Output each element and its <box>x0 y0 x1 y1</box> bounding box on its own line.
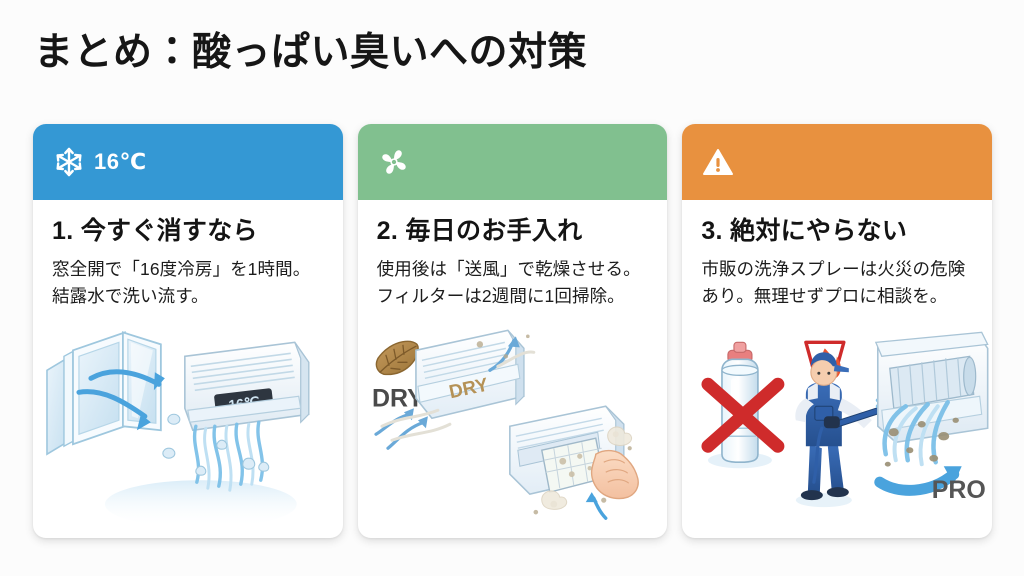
card-text-never: 市販の洗浄スプレーは火災の危険あり。無理せずプロに相談を。 <box>701 256 973 310</box>
page-title: まとめ：酸っぱい臭いへの対策 <box>34 30 587 77</box>
card-grid: 16℃ 1. 今すぐ消すなら 窓全開で「16度冷房」を1時間。結露水で洗い流す。 <box>33 124 992 538</box>
card-text-cool: 窓全開で「16度冷房」を1時間。結露水で洗い流す。 <box>52 256 324 310</box>
card-header-fan <box>358 124 668 200</box>
illustration-no-spray-pro: PRO <box>682 311 992 539</box>
dry-leaf-icon <box>376 341 418 374</box>
filter-pull-arrowhead <box>585 492 597 502</box>
warning-triangle-icon <box>702 146 734 178</box>
card-cool-burst[interactable]: 16℃ 1. 今すぐ消すなら 窓全開で「16度冷房」を1時間。結露水で洗い流す。 <box>33 124 343 538</box>
slide-root: まとめ：酸っぱい臭いへの対策 <box>0 0 1024 576</box>
card-never-do[interactable]: 3. 絶対にやらない 市販の洗浄スプレーは火災の危険あり。無理せずプロに相談を。 <box>682 124 992 538</box>
cool-air-streams-soft <box>205 424 253 490</box>
card-heading-never: 3. 絶対にやらない <box>701 216 973 247</box>
window-center-frame <box>73 332 125 444</box>
card-heading-cool: 1. 今すぐ消すなら <box>52 216 324 247</box>
hand-icon <box>591 450 638 498</box>
card-body-never: 3. 絶対にやらない 市販の洗浄スプレーは火災の危険あり。無理せずプロに相談を。 <box>682 200 992 311</box>
card-text-care: 使用後は「送風」で乾燥させる。フィルターは2週間に1回掃除。 <box>377 256 649 310</box>
card-heading-care: 2. 毎日のお手入れ <box>377 216 649 247</box>
ac-unit-filter-open <box>510 406 638 498</box>
air-conditioner-unit: 16℃ <box>185 342 309 430</box>
card-header-cool: 16℃ <box>33 124 343 200</box>
fan-icon <box>378 146 410 178</box>
card-daily-care[interactable]: 2. 毎日のお手入れ 使用後は「送風」で乾燥させる。フィルターは2週間に1回掃除… <box>358 124 668 538</box>
card-body-care: 2. 毎日のお手入れ 使用後は「送風」で乾燥させる。フィルターは2週間に1回掃除… <box>358 200 668 311</box>
illustration-open-window-ac: 16℃ <box>33 311 343 539</box>
illustration-dry-filter-clean: DRY DRY <box>358 311 668 539</box>
window-left-pane <box>47 350 75 454</box>
pro-label-text: PRO <box>932 476 986 504</box>
ac-unit-dry-mode: DRY <box>416 330 524 418</box>
ac-unit-professional-clean <box>876 332 988 442</box>
card-header-warning <box>682 124 992 200</box>
card-body-cool: 1. 今すぐ消すなら 窓全開で「16度冷房」を1時間。結露水で洗い流す。 <box>33 200 343 311</box>
snowflake-icon <box>53 146 85 178</box>
card-header-label-cool: 16℃ <box>94 151 147 173</box>
